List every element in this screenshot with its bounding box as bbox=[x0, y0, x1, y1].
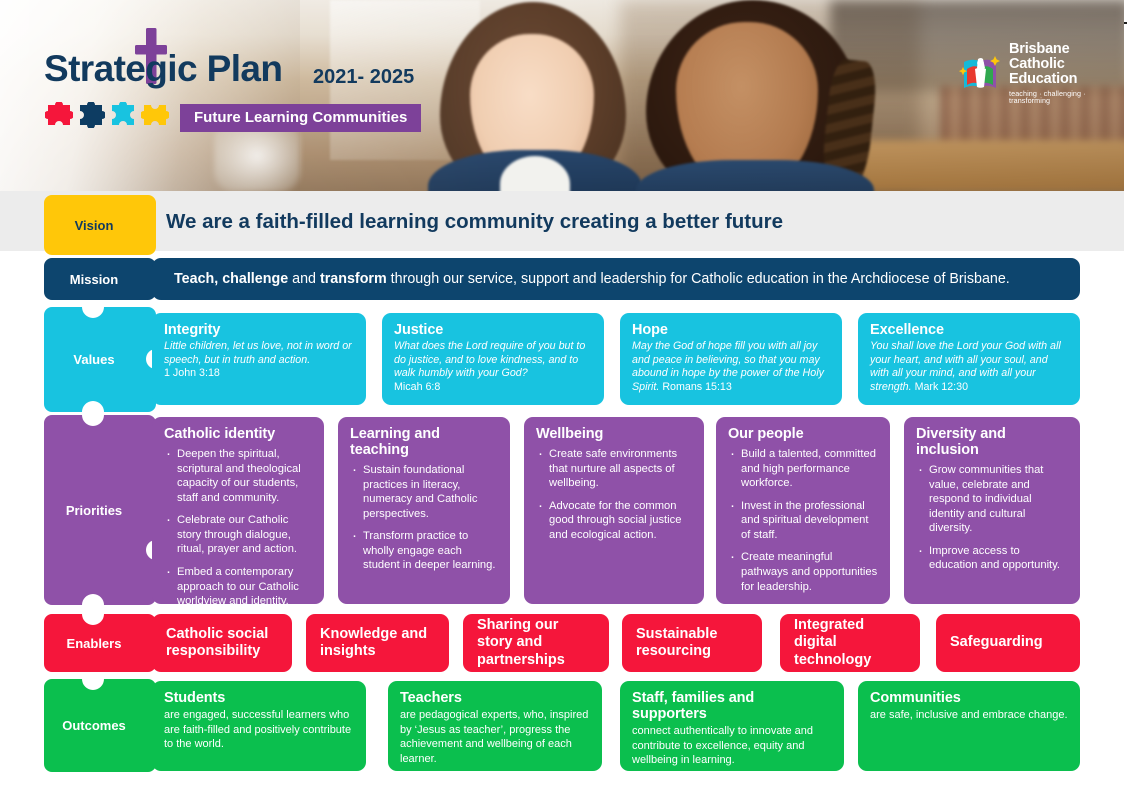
logo-line-3: Education bbox=[1009, 72, 1124, 87]
mission-mid: and bbox=[288, 271, 320, 287]
logo-tagline: teaching · challenging · transforming bbox=[1009, 90, 1124, 105]
priorities-tab-label: Priorities bbox=[44, 415, 144, 605]
bce-emblem-icon bbox=[958, 51, 1002, 95]
jigsaw-swatch-red bbox=[45, 102, 73, 128]
priority-card-diversity-and-inclusion: Diversity and inclusion Grow communities… bbox=[904, 417, 1080, 604]
enabler-knowledge-and-insights: Knowledge and insights bbox=[306, 614, 449, 672]
priority-bullet: Grow communities that value, celebrate a… bbox=[916, 463, 1068, 536]
priority-title: Catholic identity bbox=[164, 426, 312, 442]
brand-swatches bbox=[45, 102, 169, 128]
outcome-body: are pedagogical experts, who, inspired b… bbox=[400, 708, 590, 767]
value-title: Integrity bbox=[164, 322, 354, 338]
priority-card-our-people: Our people Build a talented, committed a… bbox=[716, 417, 890, 604]
vision-statement: We are a faith-filled learning community… bbox=[166, 210, 783, 234]
priority-bullet: Transform practice to wholly engage each… bbox=[350, 529, 498, 573]
enabler-safeguarding: Safeguarding bbox=[936, 614, 1080, 672]
value-card-integrity: Integrity Little children, let us love, … bbox=[152, 313, 366, 405]
priority-card-learning-and-teaching: Learning and teaching Sustain foundation… bbox=[338, 417, 510, 604]
priority-bullet: Invest in the professional and spiritual… bbox=[728, 499, 878, 543]
value-scripture: What does the Lord require of you but to… bbox=[394, 340, 585, 379]
priority-bullet: Create safe environments that nurture al… bbox=[536, 447, 692, 491]
priority-title: Our people bbox=[728, 426, 878, 442]
value-reference: 1 John 3:18 bbox=[164, 367, 354, 381]
priority-bullet: Embed a contemporary approach to our Cat… bbox=[164, 565, 312, 609]
jigsaw-swatch-cyan bbox=[109, 102, 137, 128]
brisbane-catholic-education-logo: Brisbane Catholic Education teaching · c… bbox=[958, 42, 1124, 105]
value-title: Hope bbox=[632, 322, 830, 338]
values-tab-label: Values bbox=[44, 307, 144, 412]
value-card-hope: Hope May the God of hope fill you with a… bbox=[620, 313, 842, 405]
value-reference: Micah 6:8 bbox=[394, 381, 592, 395]
classroom-photo bbox=[0, 0, 1124, 191]
priority-bullet: Create meaningful pathways and opportuni… bbox=[728, 550, 878, 594]
mission-rest: through our service, support and leaders… bbox=[387, 271, 1010, 287]
priority-bullet: Build a talented, committed and high per… bbox=[728, 447, 878, 491]
outcome-card-teachers: Teachers are pedagogical experts, who, i… bbox=[388, 681, 602, 771]
outcomes-tab-label: Outcomes bbox=[44, 679, 144, 772]
priority-bullet: Celebrate our Catholic story through dia… bbox=[164, 513, 312, 557]
outcome-title: Teachers bbox=[400, 690, 590, 706]
value-reference: Romans 15:13 bbox=[662, 381, 732, 393]
outcome-body: are safe, inclusive and embrace change. bbox=[870, 708, 1068, 723]
value-scripture: Little children, let us love, not in wor… bbox=[164, 340, 352, 366]
outcome-body: are engaged, successful learners who are… bbox=[164, 708, 354, 752]
outcome-body: connect authentically to innovate and co… bbox=[632, 724, 832, 768]
enabler-sharing-our-story-and-partnerships: Sharing our story and partnerships bbox=[463, 614, 609, 672]
priority-bullet: Deepen the spiritual, scriptural and the… bbox=[164, 447, 312, 505]
priority-bullet: Sustain foundational practices in litera… bbox=[350, 463, 498, 521]
priority-card-catholic-identity: Catholic identity Deepen the spiritual, … bbox=[152, 417, 324, 604]
mission-bold-1: Teach, challenge bbox=[174, 271, 288, 287]
plan-years: 2021- 2025 bbox=[313, 66, 414, 89]
priority-bullet: Improve access to education and opportun… bbox=[916, 544, 1068, 573]
jigsaw-swatch-yellow bbox=[141, 102, 169, 128]
enabler-catholic-social-responsibility: Catholic social responsibility bbox=[152, 614, 292, 672]
priority-title: Learning and teaching bbox=[350, 426, 498, 458]
enabler-integrated-digital-technology: Integrated digital technology bbox=[780, 614, 920, 672]
outcome-card-communities: Communities are safe, inclusive and embr… bbox=[858, 681, 1080, 771]
priority-title: Wellbeing bbox=[536, 426, 692, 442]
header-banner: Strategic Plan 2021- 2025 Future Learnin… bbox=[0, 0, 1124, 191]
outcome-title: Students bbox=[164, 690, 354, 706]
logo-line-2: Catholic bbox=[1009, 57, 1124, 72]
outcome-title: Staff, families and supporters bbox=[632, 690, 832, 722]
outcome-card-students: Students are engaged, successful learner… bbox=[152, 681, 366, 771]
strategic-plan-poster: Strategic Plan 2021- 2025 Future Learnin… bbox=[0, 0, 1131, 785]
priority-title: Diversity and inclusion bbox=[916, 426, 1068, 458]
mission-statement: Teach, challenge and transform through o… bbox=[152, 258, 1080, 300]
value-card-justice: Justice What does the Lord require of yo… bbox=[382, 313, 604, 405]
enabler-sustainable-resourcing: Sustainable resourcing bbox=[622, 614, 762, 672]
priority-card-wellbeing: Wellbeing Create safe environments that … bbox=[524, 417, 704, 604]
value-reference: Mark 12:30 bbox=[915, 381, 968, 393]
priority-bullet: Advocate for the common good through soc… bbox=[536, 499, 692, 543]
enablers-tab-label: Enablers bbox=[44, 614, 144, 672]
mission-tab-label: Mission bbox=[44, 258, 144, 300]
vision-tab-label: Vision bbox=[44, 195, 144, 255]
jigsaw-swatch-navy bbox=[77, 102, 105, 128]
outcome-title: Communities bbox=[870, 690, 1068, 706]
value-card-excellence: Excellence You shall love the Lord your … bbox=[858, 313, 1080, 405]
outcome-card-staff-families-supporters: Staff, families and supporters connect a… bbox=[620, 681, 844, 771]
logo-line-1: Brisbane bbox=[1009, 42, 1124, 57]
page-title: Strategic Plan bbox=[44, 48, 282, 90]
mission-bold-2: transform bbox=[320, 271, 387, 287]
value-title: Excellence bbox=[870, 322, 1068, 338]
value-title: Justice bbox=[394, 322, 592, 338]
future-learning-communities-pill: Future Learning Communities bbox=[180, 104, 421, 132]
